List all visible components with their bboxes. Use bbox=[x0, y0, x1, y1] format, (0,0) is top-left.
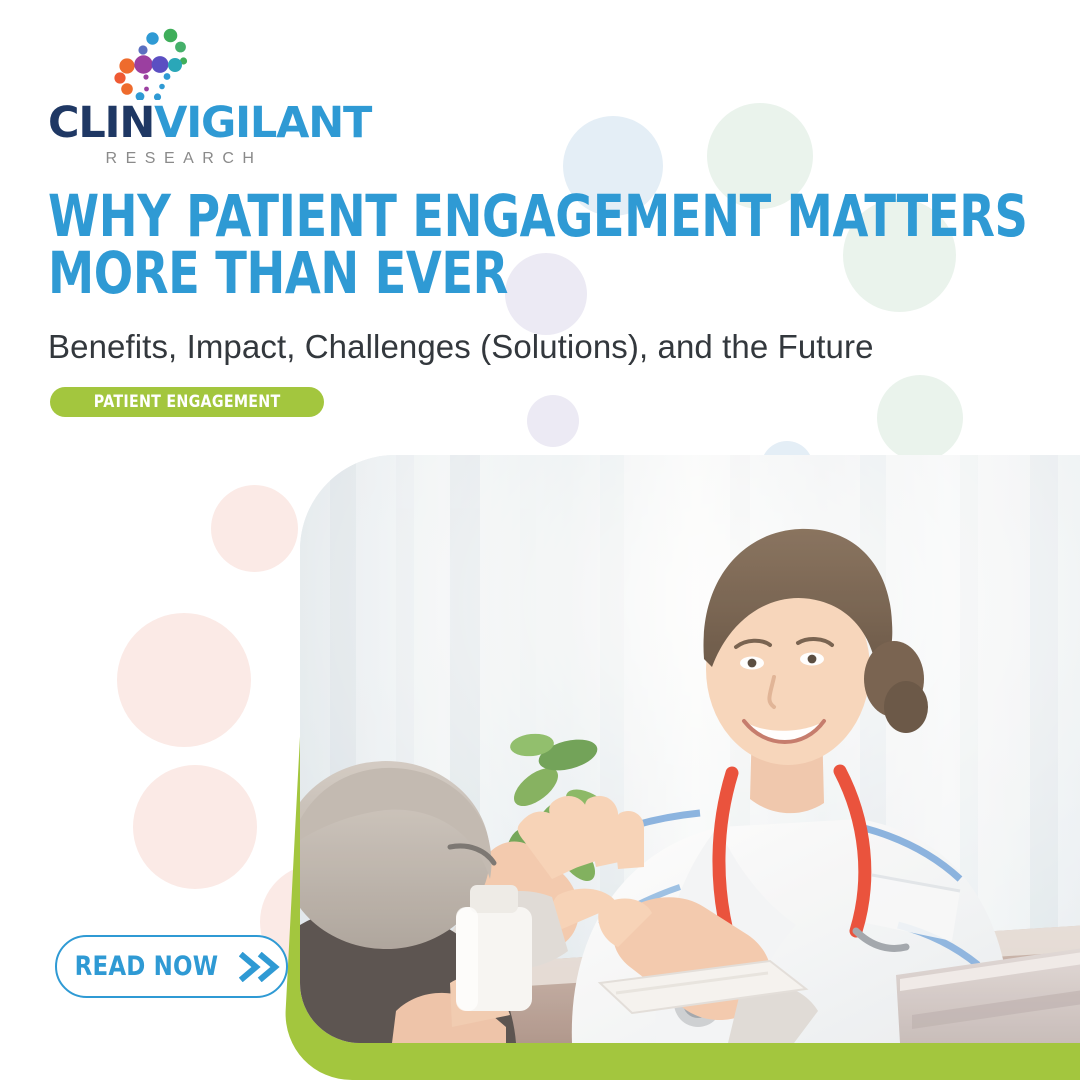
category-badge-label: PATIENT ENGAGEMENT bbox=[94, 392, 281, 412]
brand-tagline: RESEARCH bbox=[48, 150, 308, 168]
social-card: CLINVIGILANT RESEARCH WHY PATIENT ENGAGE… bbox=[0, 0, 1080, 1080]
decor-circle-lavender bbox=[527, 395, 579, 447]
read-now-button[interactable]: READ NOW bbox=[55, 935, 288, 998]
hero-photo bbox=[300, 455, 1080, 1043]
brand-name-part1: CLIN bbox=[48, 98, 154, 148]
decor-circle-pink bbox=[211, 485, 298, 572]
brand-wordmark: CLINVIGILANT bbox=[48, 102, 308, 145]
molecule-dots-logo-icon bbox=[110, 28, 200, 100]
brand-logo[interactable]: CLINVIGILANT RESEARCH bbox=[48, 28, 308, 168]
decor-circle-mint bbox=[877, 375, 963, 461]
subtitle: Benefits, Impact, Challenges (Solutions)… bbox=[48, 328, 874, 366]
headline-line-1: WHY PATIENT ENGAGEMENT MATTERS bbox=[48, 188, 688, 245]
double-chevron-right-icon bbox=[239, 952, 281, 982]
page-title: WHY PATIENT ENGAGEMENT MATTERS MORE THAN… bbox=[48, 188, 848, 302]
decor-circle-pink bbox=[117, 613, 251, 747]
brand-name-part2: VIGILANT bbox=[154, 98, 371, 148]
read-now-label: READ NOW bbox=[74, 951, 218, 982]
headline-line-2: MORE THAN EVER bbox=[48, 245, 688, 302]
decor-circle-pink bbox=[133, 765, 257, 889]
category-badge[interactable]: PATIENT ENGAGEMENT bbox=[50, 387, 324, 417]
